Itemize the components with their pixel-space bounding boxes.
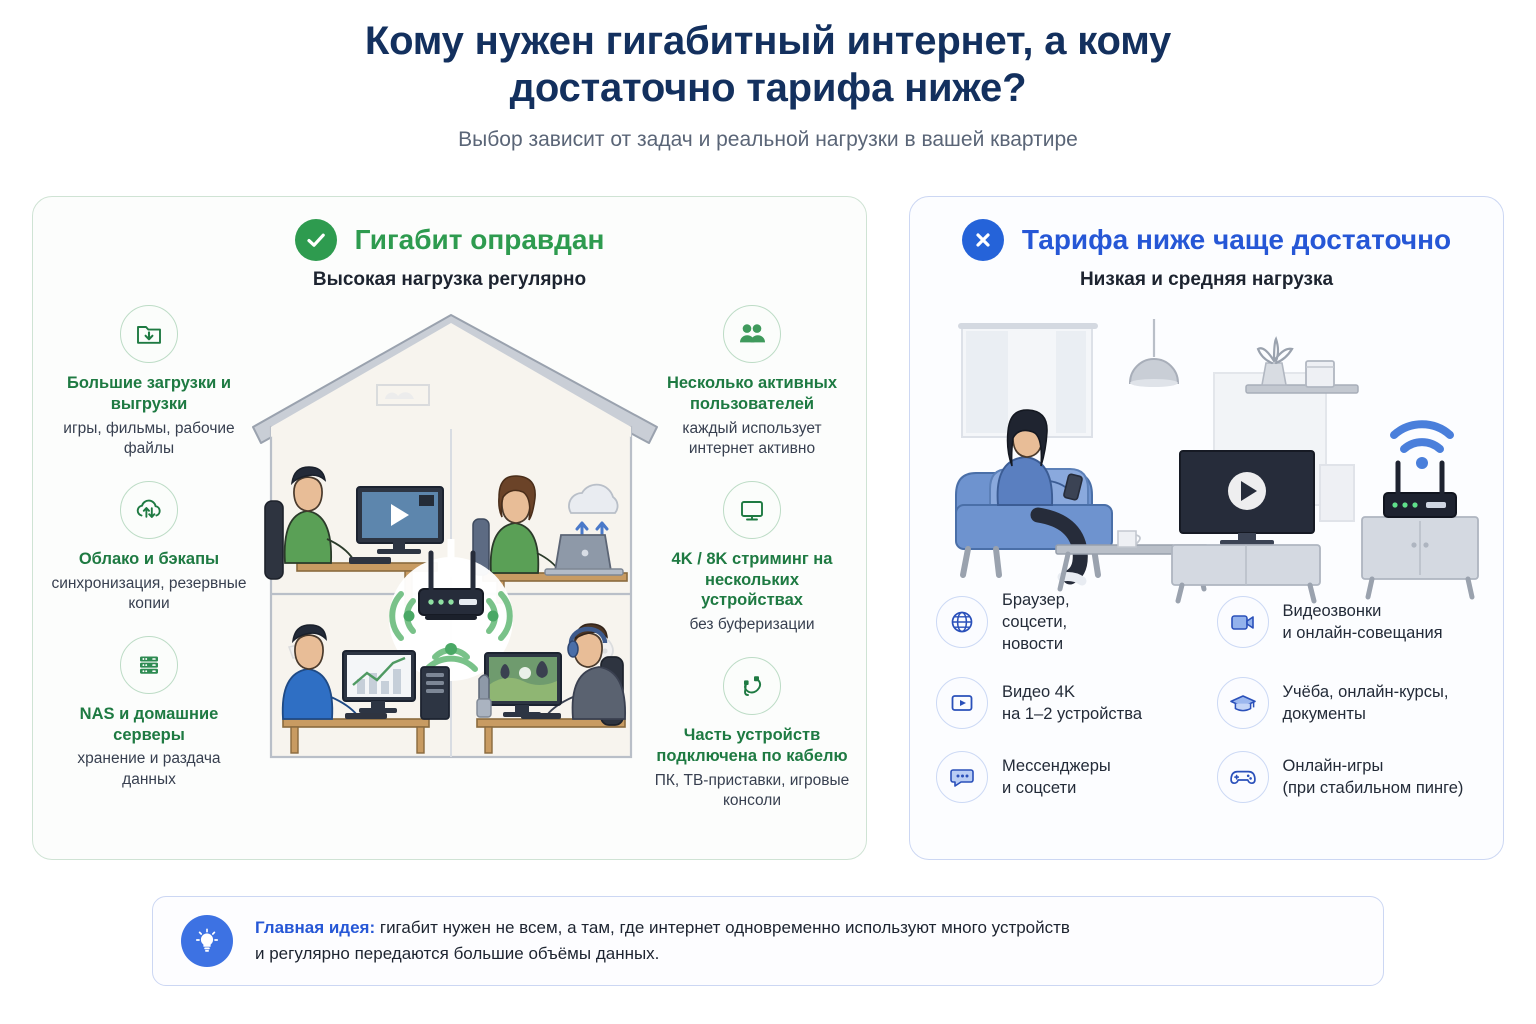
- living-room-illustration: [910, 305, 1503, 595]
- tile-video-calls: Видеозвонки и онлайн-совещания: [1217, 589, 1484, 655]
- gamepad-icon: [1217, 751, 1269, 803]
- tile-browser-social-news: Браузер, соцсети, новости: [936, 589, 1203, 655]
- server-rack-icon: [120, 636, 178, 694]
- feature-title: 4K / 8K стриминг на нескольких устройств…: [652, 549, 852, 611]
- tile-messengers: Мессенджеры и соцсети: [936, 751, 1203, 803]
- feature-subtitle: игры, фильмы, рабочие файлы: [49, 419, 249, 459]
- monitor-icon: [723, 481, 781, 539]
- chat-bubble-icon: [936, 751, 988, 803]
- left-panel-subheading: Высокая нагрузка регулярно: [33, 269, 866, 291]
- feature-nas-servers: NAS и домашние серверы хранение и раздач…: [49, 636, 249, 790]
- feature-subtitle: синхронизация, резервные копии: [49, 574, 249, 614]
- feature-subtitle: без буферизации: [652, 615, 852, 635]
- tile-video-4k: Видео 4K на 1–2 устройства: [936, 677, 1203, 729]
- page-title: Кому нужен гигабитный интернет, а кому д…: [258, 18, 1278, 112]
- tile-study-courses: Учёба, онлайн-курсы, документы: [1217, 677, 1484, 729]
- key-idea-note: Главная идея: гигабит нужен не всем, а т…: [152, 896, 1384, 986]
- users-group-icon: [723, 305, 781, 363]
- feature-title: Облако и бэкапы: [49, 549, 249, 570]
- feature-multiple-users: Несколько активных пользователей каждый …: [652, 305, 852, 459]
- tile-label: Онлайн-игры (при стабильном пинге): [1283, 755, 1464, 799]
- cloud-sync-icon: [120, 481, 178, 539]
- feature-subtitle: каждый использует интернет активно: [652, 419, 852, 459]
- feature-subtitle: хранение и раздача данных: [49, 749, 249, 789]
- panel-lower-tariff-enough: Тарифа ниже чаще достаточно Низкая и сре…: [909, 196, 1504, 860]
- feature-title: NAS и домашние серверы: [49, 704, 249, 746]
- right-panel-usage-tiles: Браузер, соцсети, новости Видеозвонки и …: [936, 589, 1483, 803]
- feature-title: Несколько активных пользователей: [652, 373, 852, 415]
- feature-wired-devices: Часть устройств подключена по кабелю ПК,…: [652, 657, 852, 811]
- left-panel-heading: Гигабит оправдан: [355, 224, 605, 256]
- key-idea-label: Главная идея:: [255, 918, 375, 937]
- two-story-house-cutaway-illustration: [245, 301, 665, 771]
- left-feature-column: Большие загрузки и выгрузки игры, фильмы…: [49, 305, 249, 808]
- lightbulb-icon: [181, 915, 233, 967]
- video-play-icon: [936, 677, 988, 729]
- feature-large-downloads: Большие загрузки и выгрузки игры, фильмы…: [49, 305, 249, 459]
- tile-label: Учёба, онлайн-курсы, документы: [1283, 681, 1449, 725]
- feature-title: Большие загрузки и выгрузки: [49, 373, 249, 415]
- page-header: Кому нужен гигабитный интернет, а кому д…: [0, 0, 1536, 152]
- tile-label: Видео 4K на 1–2 устройства: [1002, 681, 1142, 725]
- check-circle-icon: [295, 219, 337, 261]
- panel-gigabit-justified: Гигабит оправдан Высокая нагрузка регуля…: [32, 196, 867, 860]
- feature-title: Часть устройств подключена по кабелю: [652, 725, 852, 767]
- key-idea-line1: гигабит нужен не всем, а там, где интерн…: [375, 918, 1070, 937]
- key-idea-text: Главная идея: гигабит нужен не всем, а т…: [255, 915, 1070, 968]
- left-panel-header: Гигабит оправдан: [33, 197, 866, 261]
- tile-label: Браузер, соцсети, новости: [1002, 589, 1070, 655]
- folder-download-icon: [120, 305, 178, 363]
- page-subtitle: Выбор зависит от задач и реальной нагруз…: [0, 128, 1536, 152]
- key-idea-line2: и регулярно передаются большие объёмы да…: [255, 941, 1070, 967]
- feature-subtitle: ПК, ТВ-приставки, игровые консоли: [652, 771, 852, 811]
- right-panel-header: Тарифа ниже чаще достаточно: [910, 197, 1503, 261]
- video-camera-icon: [1217, 596, 1269, 648]
- tile-label: Видеозвонки и онлайн-совещания: [1283, 600, 1443, 644]
- right-panel-subheading: Низкая и средняя нагрузка: [910, 269, 1503, 291]
- tile-label: Мессенджеры и соцсети: [1002, 755, 1111, 799]
- globe-icon: [936, 596, 988, 648]
- cross-circle-icon: [962, 219, 1004, 261]
- feature-4k-8k-streaming: 4K / 8K стриминг на нескольких устройств…: [652, 481, 852, 635]
- ethernet-cable-icon: [723, 657, 781, 715]
- left-panel-body: Большие загрузки и выгрузки игры, фильмы…: [33, 305, 866, 865]
- comparison-panels: Гигабит оправдан Высокая нагрузка регуля…: [32, 196, 1504, 860]
- right-feature-column: Несколько активных пользователей каждый …: [652, 305, 852, 829]
- right-panel-heading: Тарифа ниже чаще достаточно: [1022, 224, 1451, 256]
- tile-online-games: Онлайн-игры (при стабильном пинге): [1217, 751, 1484, 803]
- feature-cloud-backups: Облако и бэкапы синхронизация, резервные…: [49, 481, 249, 614]
- graduation-cap-icon: [1217, 677, 1269, 729]
